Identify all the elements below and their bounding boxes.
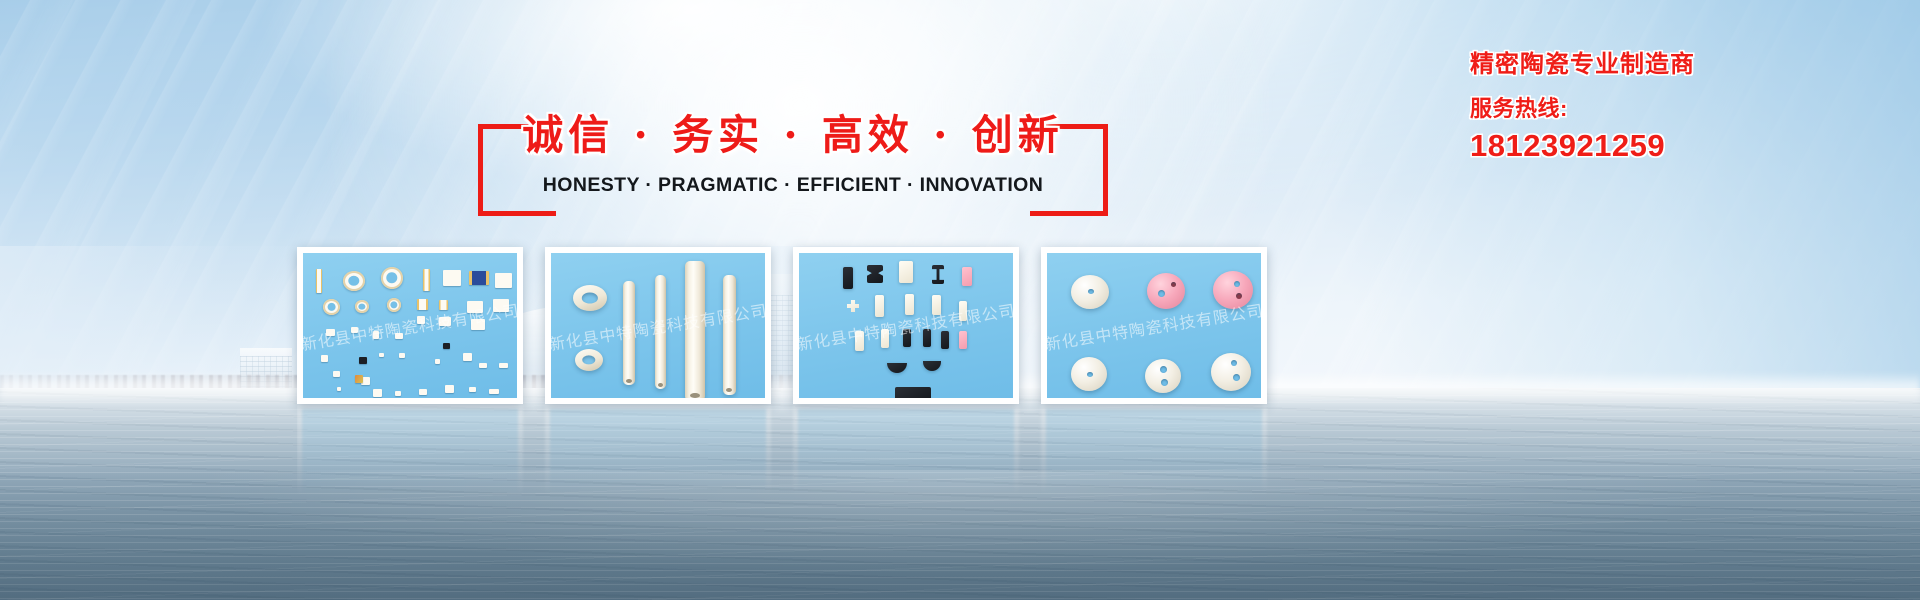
panel-image: 新化县中特陶瓷科技有限公司 (1047, 253, 1261, 398)
ground-vignette (0, 470, 1920, 600)
slogan-english: HONESTY · PRAGMATIC · EFFICIENT · INNOVA… (478, 174, 1108, 197)
product-panel-tubes-rods[interactable]: 新化县中特陶瓷科技有限公司 (545, 247, 771, 404)
company-tagline: 精密陶瓷专业制造商 (1470, 48, 1890, 82)
hotline-number[interactable]: 18123921259 (1470, 126, 1890, 166)
contact-info: 精密陶瓷专业制造商 服务热线: 18123921259 (1470, 48, 1890, 166)
hotline-label: 服务热线: (1470, 94, 1890, 124)
product-gallery: 新化县中特陶瓷科技有限公司 新化县中特陶瓷科技有限公司 (297, 247, 1577, 404)
panel-image: 新化县中特陶瓷科技有限公司 (551, 253, 765, 398)
product-panel-blocks[interactable]: 新化县中特陶瓷科技有限公司 (793, 247, 1019, 404)
slogan-chinese: 诚信 · 务实 · 高效 · 创新 (478, 104, 1108, 166)
panel-image: 新化县中特陶瓷科技有限公司 (303, 253, 517, 398)
banner-stage: 诚信 · 务实 · 高效 · 创新 HONESTY · PRAGMATIC · … (0, 0, 1920, 600)
bracket-right-bottom (1030, 211, 1108, 216)
slogan-block: 诚信 · 务实 · 高效 · 创新 HONESTY · PRAGMATIC · … (478, 104, 1108, 216)
product-panel-discs[interactable]: 新化县中特陶瓷科技有限公司 (1041, 247, 1267, 404)
panel-image: 新化县中特陶瓷科技有限公司 (799, 253, 1013, 398)
bracket-left-bottom (478, 211, 556, 216)
product-panel-smd-components[interactable]: 新化县中特陶瓷科技有限公司 (297, 247, 523, 404)
